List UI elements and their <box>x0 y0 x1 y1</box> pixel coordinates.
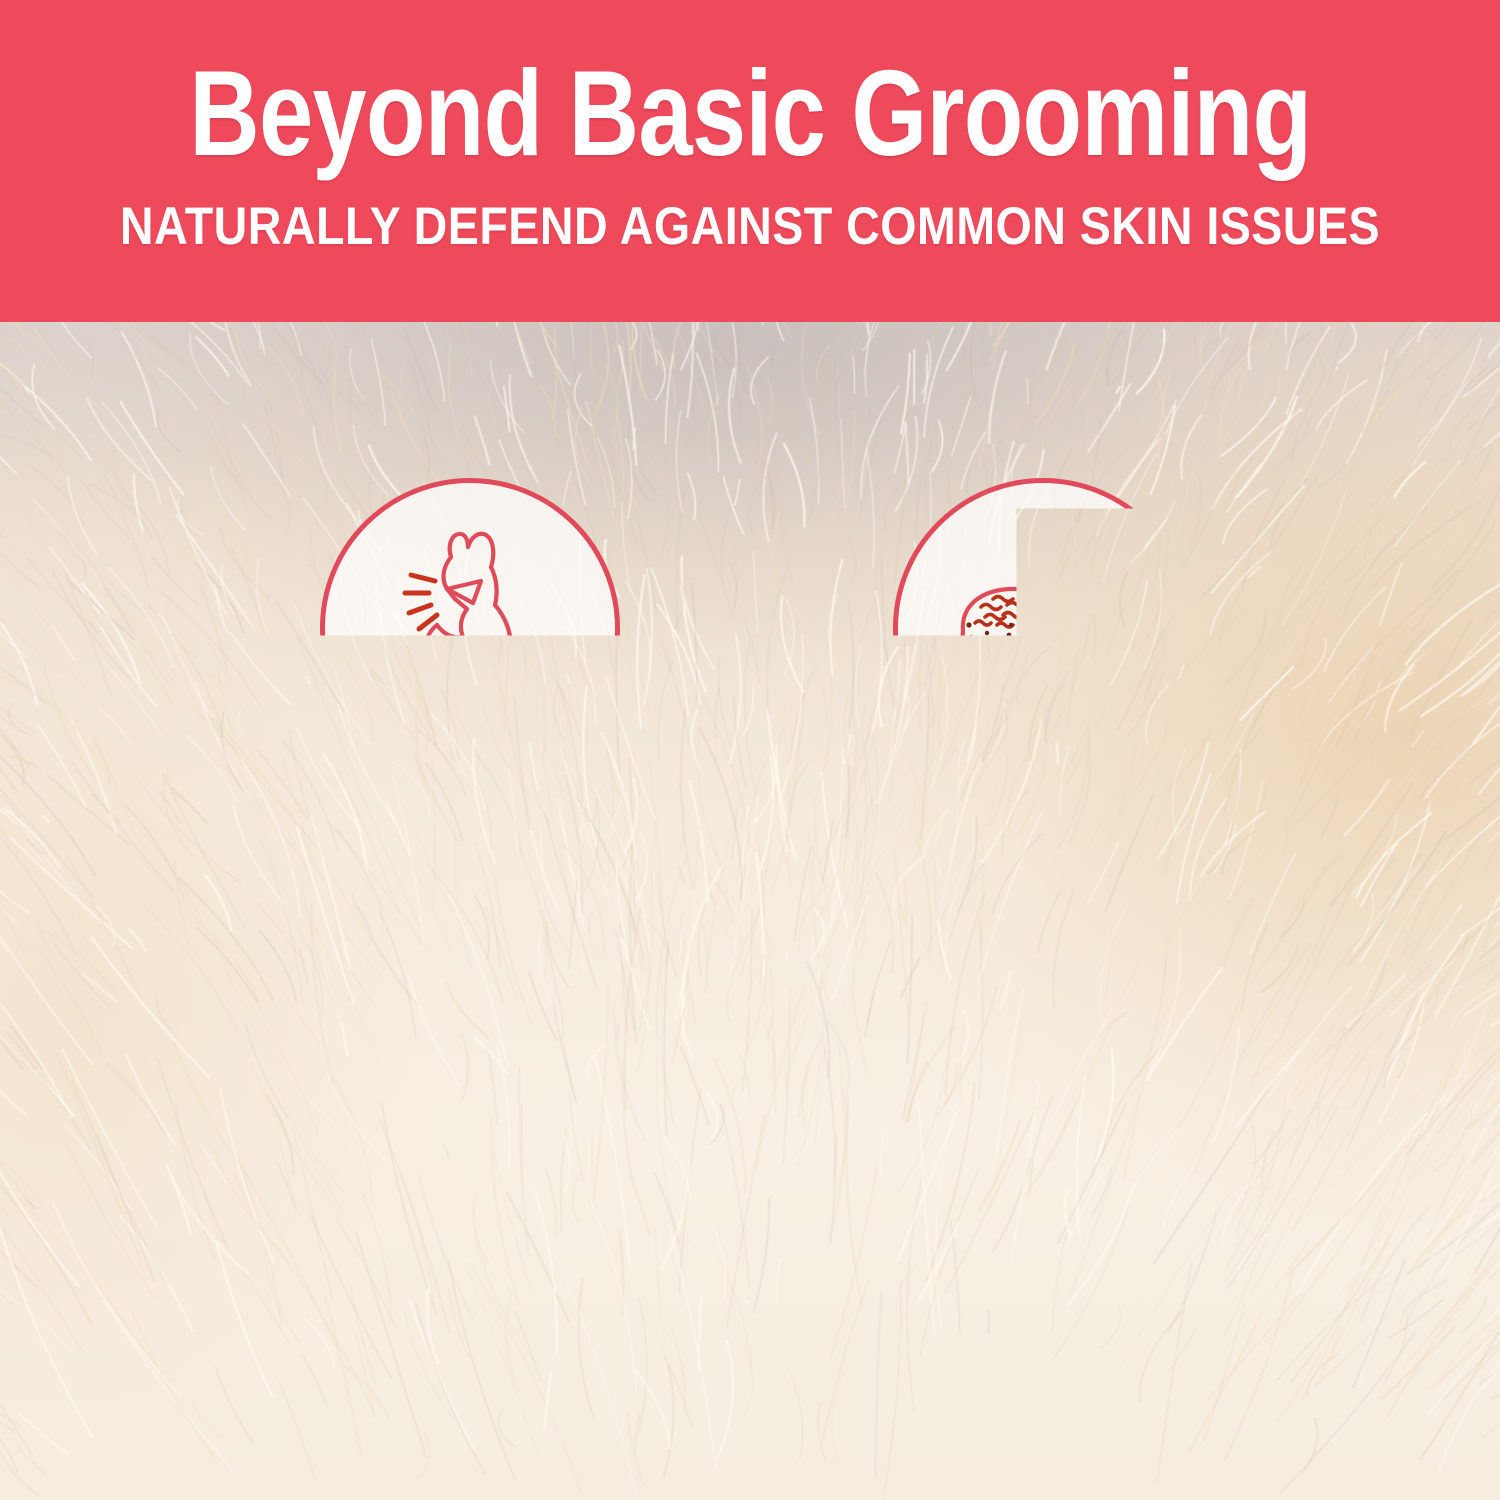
feature-item-dryness: DRYNESS <box>833 478 1253 866</box>
feature-item-irritation: IRRITATION <box>250 1002 670 1390</box>
page-title: Beyond Basic Grooming <box>189 52 1311 174</box>
irritation-icon-circle <box>310 1002 610 1302</box>
dog-dandruff-icon <box>923 513 1163 743</box>
dog-scratching-icon <box>355 513 585 743</box>
dryness-icon-circle <box>893 478 1193 778</box>
odor-icon-circle <box>893 1002 1193 1302</box>
feature-label-dryness: DRYNESS <box>850 804 1236 866</box>
feature-label-odor: ODOR <box>850 1328 1236 1390</box>
dog-odor-icon <box>923 1037 1163 1267</box>
promo-graphic: Beyond Basic Grooming NATURALLY DEFEND A… <box>0 0 1500 1500</box>
feature-item-itching: ITCHING <box>260 478 680 866</box>
feature-grid: ITCHING <box>0 322 1500 1500</box>
header-banner: Beyond Basic Grooming NATURALLY DEFEND A… <box>0 0 1500 322</box>
page-subtitle: NATURALLY DEFEND AGAINST COMMON SKIN ISS… <box>120 200 1380 253</box>
itching-icon-circle <box>320 478 620 778</box>
feature-item-odor: ODOR <box>833 1002 1253 1390</box>
feature-label-irritation: IRRITATION <box>267 1328 653 1390</box>
feature-label-itching: ITCHING <box>277 804 663 866</box>
dog-irritated-skin-icon <box>345 1037 575 1267</box>
